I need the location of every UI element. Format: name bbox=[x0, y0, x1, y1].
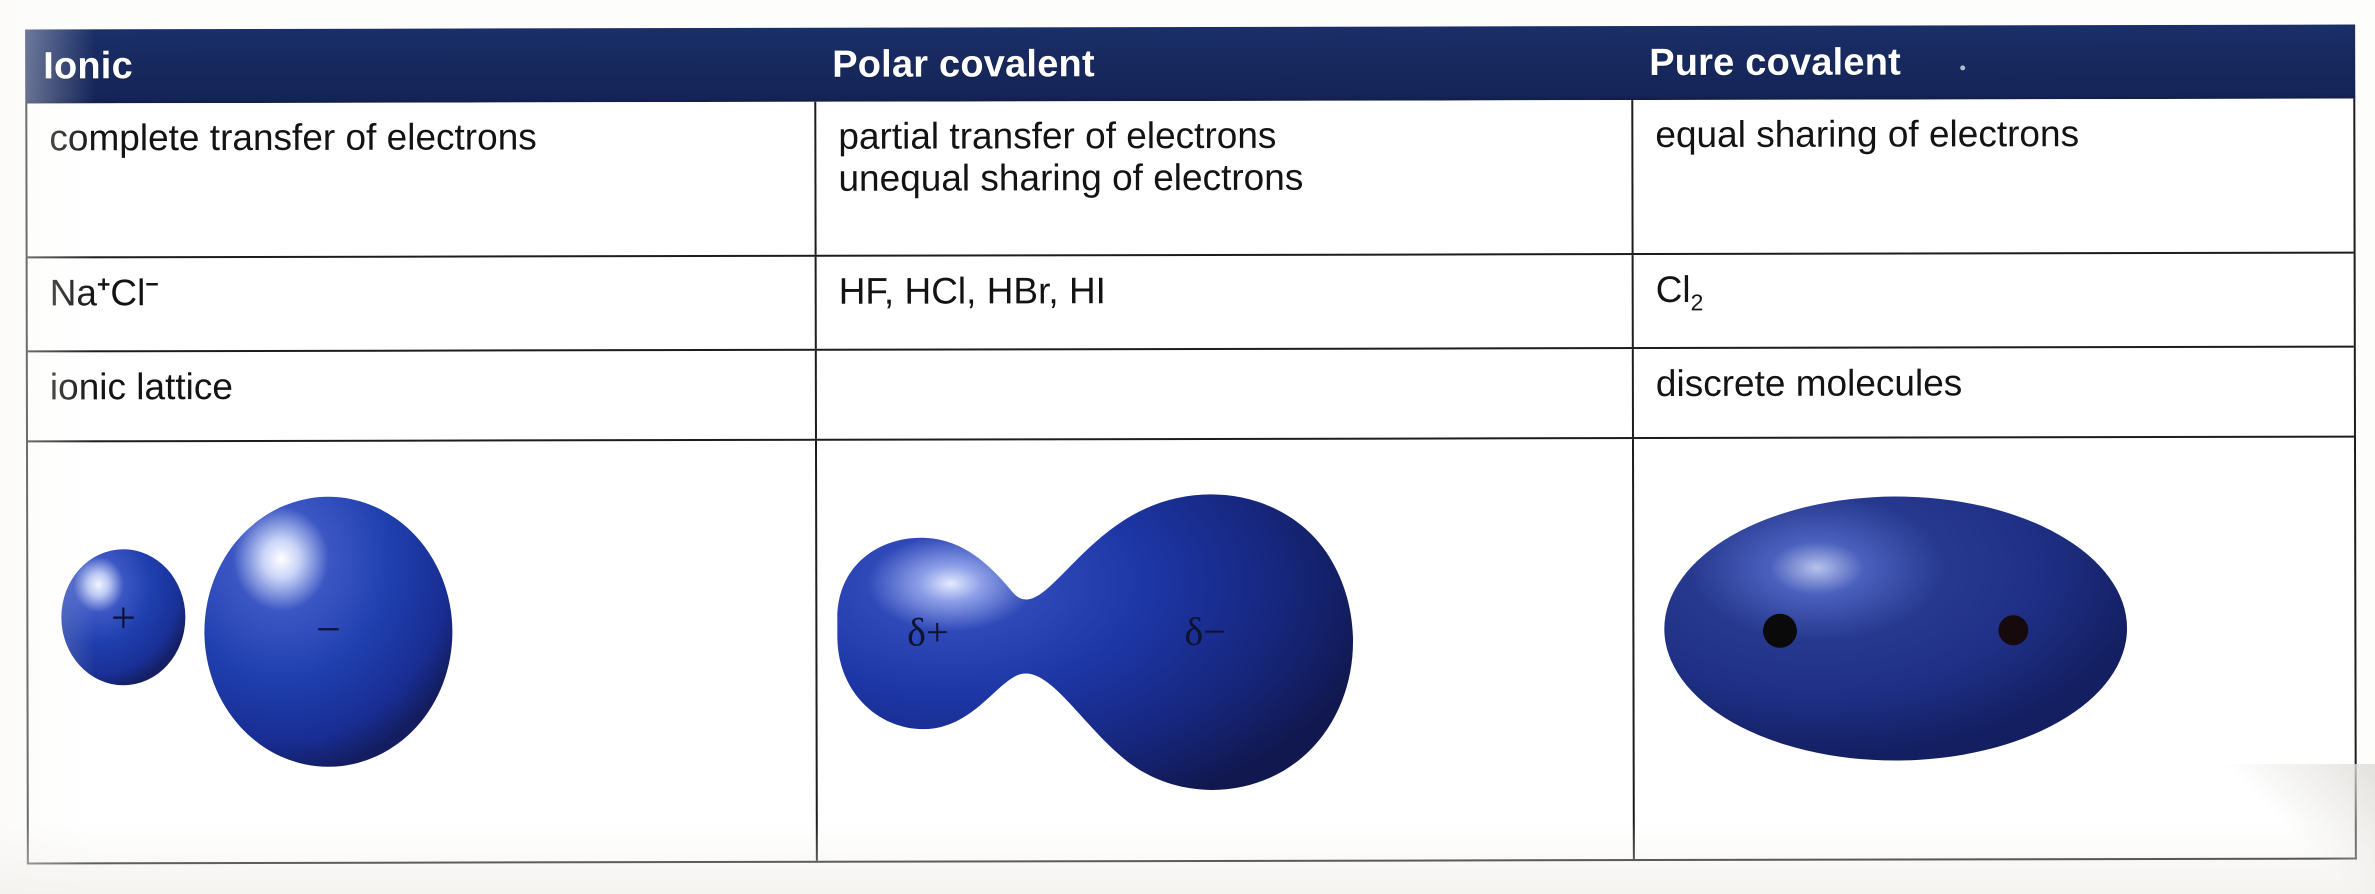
cell-polar-structure-empty bbox=[815, 349, 1632, 439]
anion-charge-label: − bbox=[316, 605, 341, 654]
polar-covalent-dumbbell-diagram: δ+ δ− bbox=[817, 439, 1633, 861]
delta-negative-label: δ− bbox=[1184, 609, 1225, 654]
cell-polar-example: HF, HCl, HBr, HI bbox=[815, 255, 1632, 349]
formula-hydrogen-halides: HF, HCl, HBr, HI bbox=[839, 269, 1632, 313]
delta-positive-label: δ+ bbox=[907, 609, 948, 654]
cation-charge-label: + bbox=[111, 593, 136, 642]
cell-text-line: discrete molecules bbox=[1656, 362, 2354, 406]
cell-pure-diagram bbox=[1632, 438, 2355, 860]
column-header-polar-covalent: Polar covalent bbox=[814, 26, 1631, 102]
cell-text-line: unequal sharing of electrons bbox=[838, 156, 1631, 200]
bonding-comparison-table: Ionic Polar covalent Pure covalent compl… bbox=[25, 25, 2357, 865]
column-header-pure-covalent-label: Pure covalent bbox=[1649, 41, 1901, 85]
formula-sodium-chloride: Na+Cl− bbox=[50, 271, 815, 315]
table-row: + − bbox=[28, 438, 2355, 863]
cell-text-line: equal sharing of electrons bbox=[1655, 113, 2353, 157]
cell-text-line: complete transfer of electrons bbox=[49, 116, 814, 160]
table-row: complete transfer of electrons partial t… bbox=[27, 99, 2353, 259]
ionic-spheres-diagram: + − bbox=[28, 441, 816, 863]
cell-ionic-description: complete transfer of electrons bbox=[27, 102, 814, 257]
column-header-polar-covalent-label: Polar covalent bbox=[832, 43, 1095, 87]
nucleus-dot-right bbox=[1998, 615, 2028, 645]
scan-speck-icon bbox=[1960, 65, 1965, 70]
molecule-ellipse bbox=[1664, 496, 2127, 761]
column-header-ionic: Ionic bbox=[25, 28, 814, 104]
cell-ionic-diagram: + − bbox=[28, 441, 816, 863]
column-header-ionic-label: Ionic bbox=[43, 45, 133, 88]
cell-ionic-structure: ionic lattice bbox=[28, 351, 815, 441]
cell-polar-diagram: δ+ δ− bbox=[815, 439, 1633, 861]
table-body: complete transfer of electrons partial t… bbox=[25, 99, 2357, 865]
cell-text-line bbox=[839, 363, 1632, 365]
nucleus-dot-left bbox=[1763, 614, 1797, 648]
table-row: ionic lattice discrete molecules bbox=[28, 348, 2354, 443]
cell-pure-example: Cl2 bbox=[1632, 254, 2354, 348]
table-header-row: Ionic Polar covalent Pure covalent bbox=[25, 25, 2355, 104]
formula-dichlorine: Cl2 bbox=[1656, 268, 2354, 312]
cell-pure-description: equal sharing of electrons bbox=[1631, 99, 2353, 254]
scanned-page: Ionic Polar covalent Pure covalent compl… bbox=[0, 0, 2375, 894]
cell-ionic-example: Na+Cl− bbox=[28, 257, 815, 351]
cell-polar-description: partial transfer of electrons unequal sh… bbox=[814, 100, 1631, 255]
table-row: Na+Cl− HF, HCl, HBr, HI Cl2 bbox=[28, 254, 2354, 353]
cell-text-line: ionic lattice bbox=[50, 365, 815, 409]
cell-pure-structure: discrete molecules bbox=[1632, 348, 2354, 438]
column-header-pure-covalent: Pure covalent bbox=[1631, 25, 2355, 101]
cell-text-line: partial transfer of electrons bbox=[838, 114, 1631, 158]
pure-covalent-ellipse-diagram bbox=[1634, 438, 2355, 860]
